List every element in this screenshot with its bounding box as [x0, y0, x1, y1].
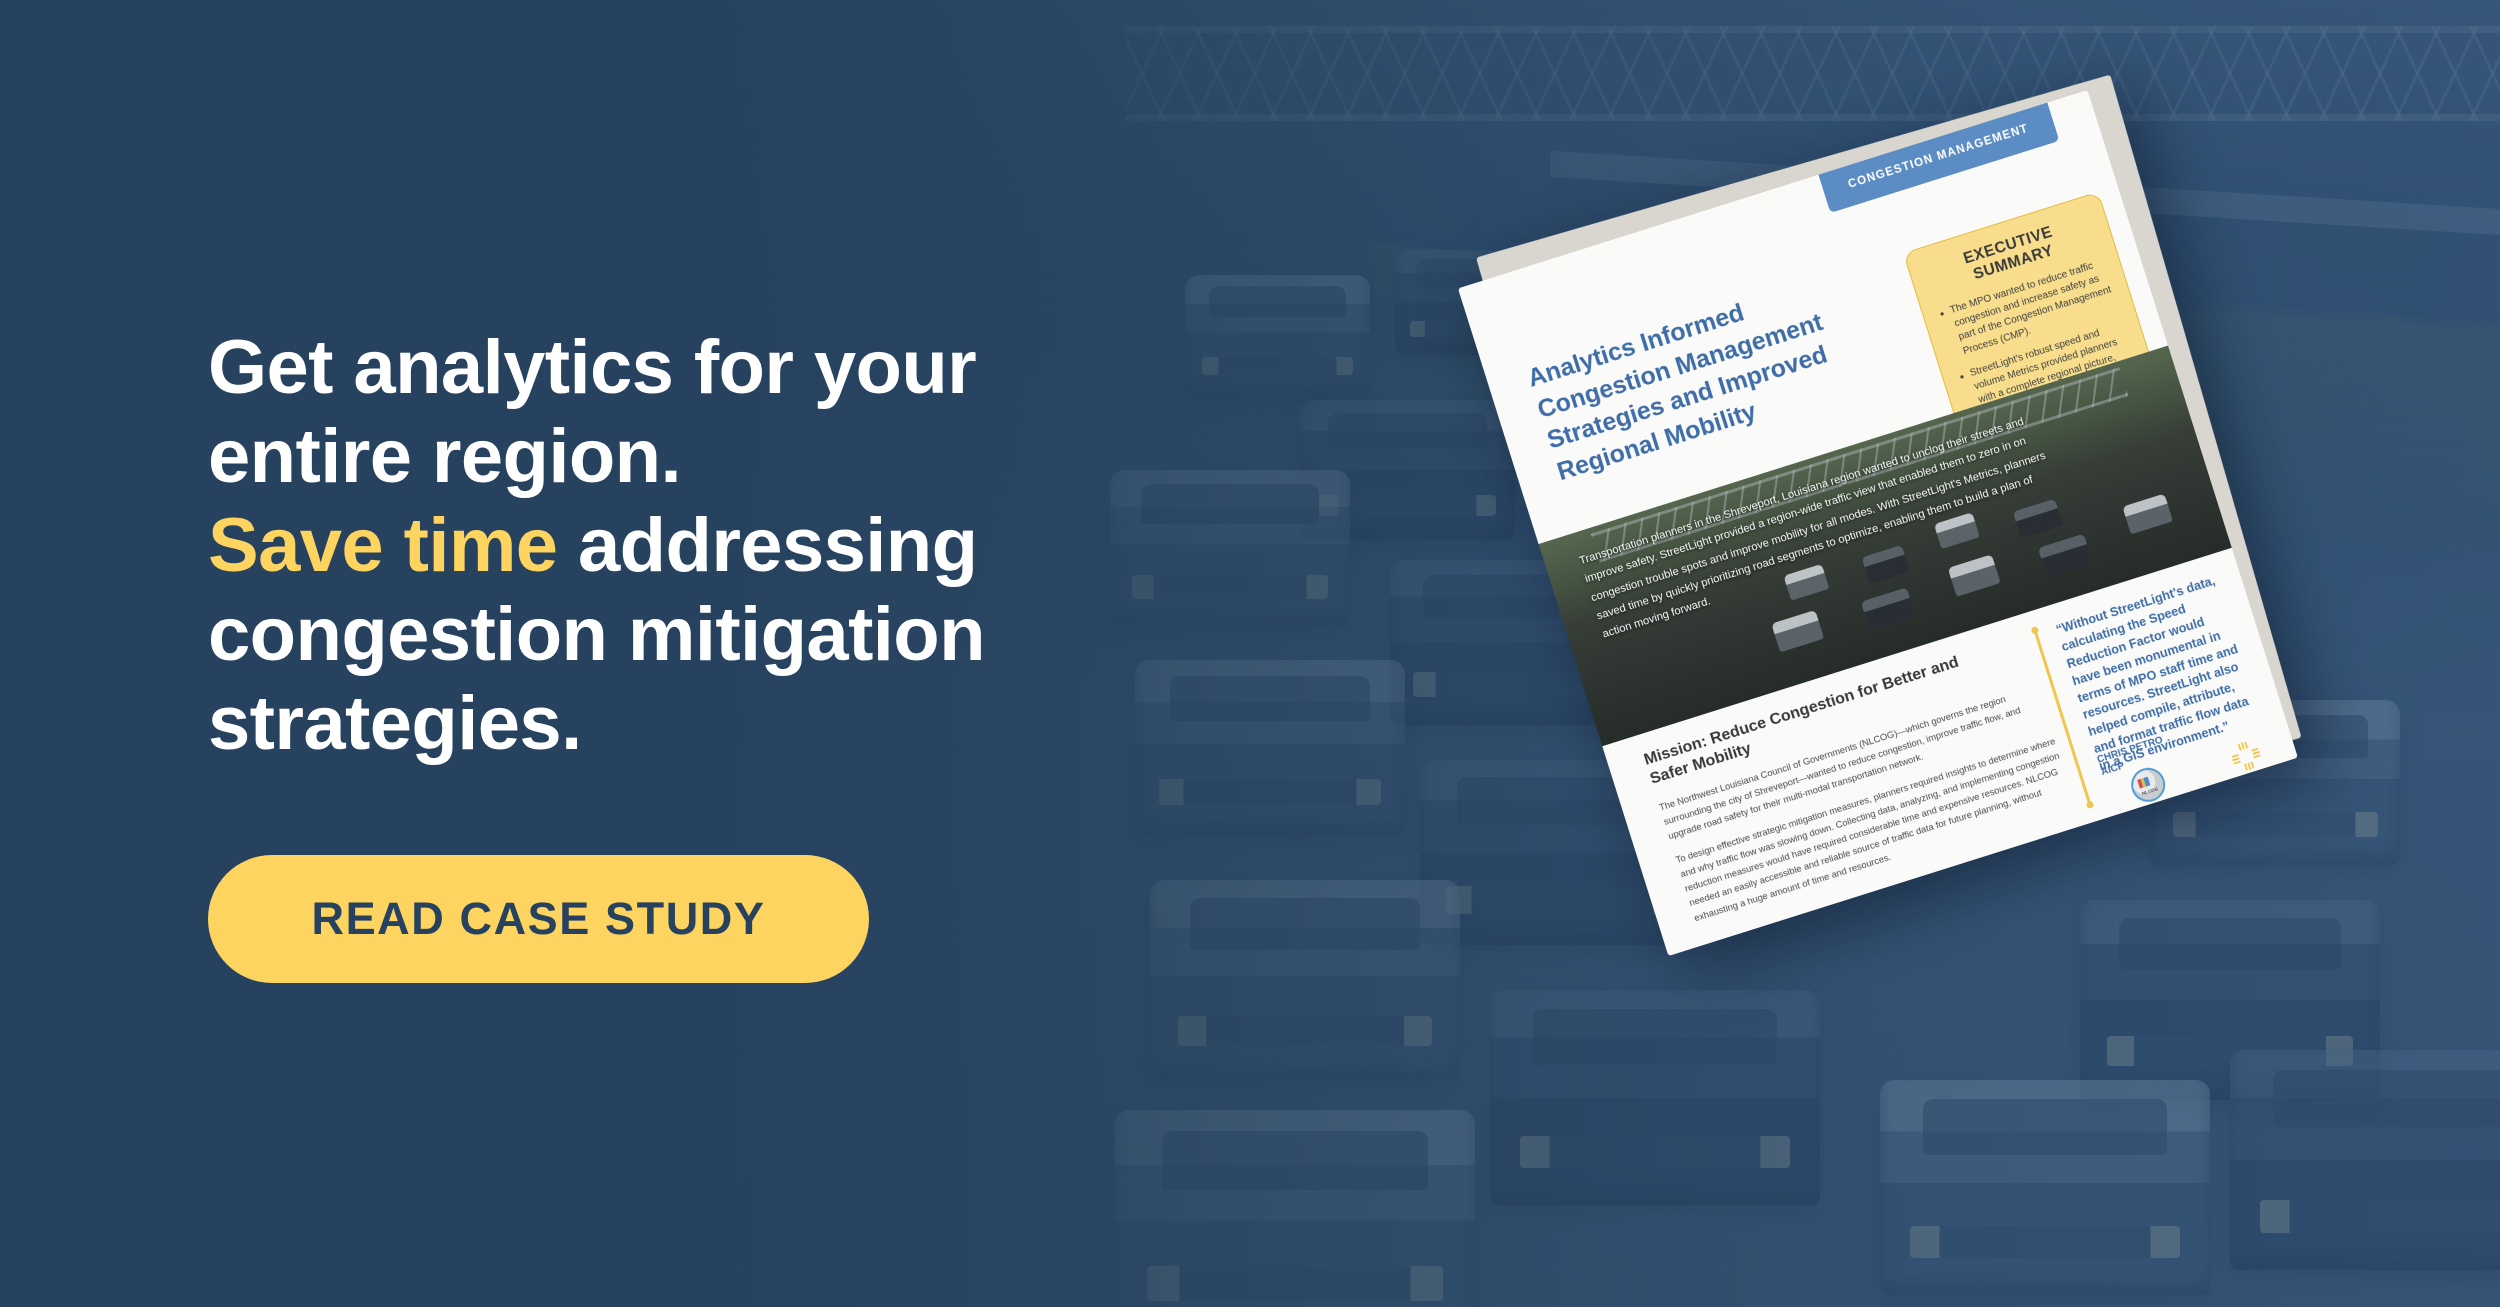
document-photo-car [1861, 587, 1916, 631]
document-photo-car [2038, 534, 2093, 578]
headline-line-4: congestion mitigation [208, 591, 1198, 680]
headline-line-5: strategies. [208, 680, 1198, 769]
streetlight-sunburst-logo [2227, 737, 2265, 775]
nlcog-seal-label: NLCOG [2135, 784, 2165, 798]
headline-line-3-rest: addressing [557, 503, 977, 588]
headline-line-2: entire region. [208, 413, 1198, 502]
promo-banner: Get analytics for your entire region. Sa… [0, 0, 2500, 1307]
document-photo-car [1948, 554, 2001, 596]
headline-accent-text: Save time [208, 503, 557, 588]
hero-content: Get analytics for your entire region. Sa… [208, 0, 1238, 1307]
document-photo-car [2122, 494, 2173, 535]
page-title: Get analytics for your entire region. Sa… [208, 324, 1198, 769]
headline-line-1: Get analytics for your [208, 324, 1198, 413]
read-case-study-button[interactable]: READ CASE STUDY [208, 855, 869, 983]
headline-line-3: Save time addressing [208, 502, 1198, 591]
nlcog-seal-logo: NLCOG [2127, 764, 2170, 807]
document-photo-car [1771, 610, 1824, 652]
